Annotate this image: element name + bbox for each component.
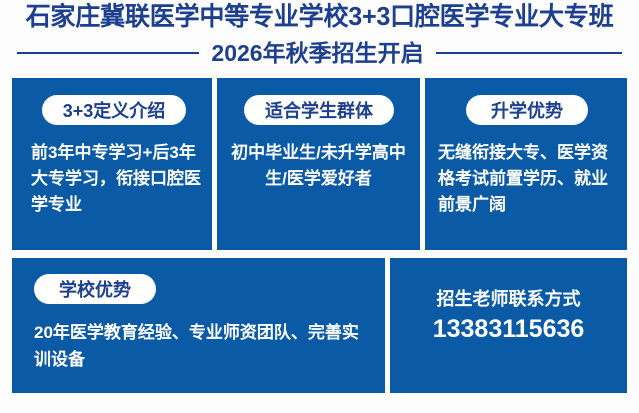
contact-phone-number[interactable]: 13383115636 [390, 312, 627, 346]
contact-block: 招生老师联系方式 13383115636 [390, 286, 627, 346]
card-contact: 招生老师联系方式 13383115636 [390, 258, 627, 393]
card-body-school-advantage: 20年医学教育经验、专业师资团队、完善实训设备 [34, 319, 374, 373]
card-advancement-advantage: 升学优势 无缝衔接大专、医学资格考试前置学历、就业前景广阔 [425, 78, 627, 250]
subtitle-row: 2026年秋季招生开启 [0, 36, 639, 70]
card-target-students: 适合学生群体 初中毕业生/未升学高中生/医学爱好者 [217, 78, 420, 250]
card-definition: 3+3定义介绍 前3年中专学习+后3年大专学习，衔接口腔医学专业 [12, 78, 212, 250]
page-title: 石家庄冀联医学中等专业学校3+3口腔医学专业大专班 [5, 1, 634, 33]
card-body-definition: 前3年中专学习+后3年大专学习，衔接口腔医学专业 [31, 140, 211, 218]
badge-school-advantage: 学校优势 [34, 274, 156, 304]
divider-line-right [436, 52, 622, 54]
page-subtitle: 2026年秋季招生开启 [211, 38, 423, 68]
badge-definition: 3+3定义介绍 [42, 95, 186, 125]
card-body-advancement-advantage: 无缝衔接大专、医学资格考试前置学历、就业前景广阔 [438, 140, 614, 218]
card-body-target-students: 初中毕业生/未升学高中生/医学爱好者 [227, 140, 410, 192]
poster-header: 石家庄冀联医学中等专业学校3+3口腔医学专业大专班 2026年秋季招生开启 [0, 0, 639, 74]
contact-label: 招生老师联系方式 [390, 286, 627, 312]
badge-advancement-advantage: 升学优势 [466, 95, 588, 125]
card-school-advantage: 学校优势 20年医学教育经验、专业师资团队、完善实训设备 [12, 258, 385, 393]
badge-target-students: 适合学生群体 [244, 95, 394, 125]
poster-root: 石家庄冀联医学中等专业学校3+3口腔医学专业大专班 2026年秋季招生开启 3+… [0, 0, 639, 413]
divider-line-left [17, 52, 199, 54]
